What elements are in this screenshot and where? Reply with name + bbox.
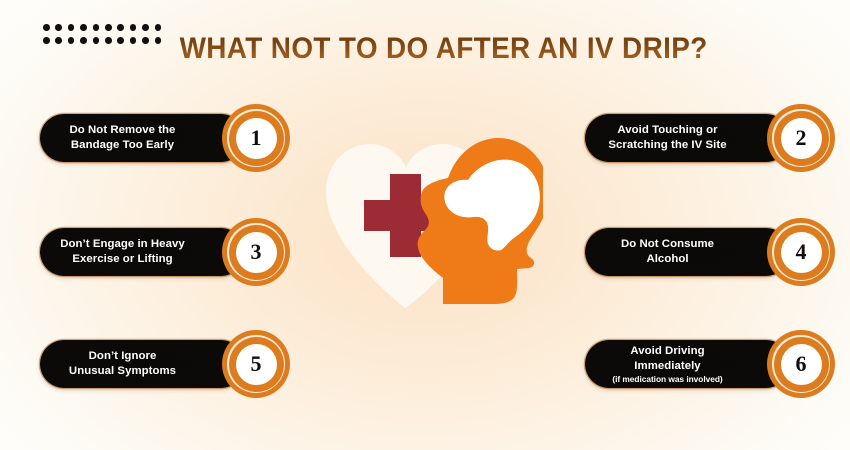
tip-pill-6[interactable]: Avoid DrivingImmediately(if medication w… (585, 340, 790, 388)
tip-sublabel-6: (if medication was involved) (597, 374, 738, 384)
tip-item-3[interactable]: Don’t Engage in HeavyExercise or Lifting… (40, 218, 290, 286)
tip-pill-1[interactable]: Do Not Remove theBandage Too Early (40, 114, 245, 162)
decorative-dot (43, 24, 50, 31)
tip-badge-ring-4: 4 (774, 225, 829, 280)
tip-item-4[interactable]: Do Not ConsumeAlcohol4 (585, 218, 835, 286)
tip-pill-5[interactable]: Don’t IgnoreUnusual Symptoms (40, 340, 245, 388)
decorative-dot (130, 24, 137, 31)
tip-badge-6[interactable]: 6 (767, 330, 835, 398)
tip-number-5: 5 (236, 344, 277, 385)
tip-badge-4[interactable]: 4 (767, 218, 835, 286)
tip-badge-ring-5: 5 (229, 337, 284, 392)
tip-label-1: Do Not Remove theBandage Too Early (52, 123, 193, 152)
infographic-canvas: WHAT NOT TO DO AFTER AN IV DRIP? Do Not … (0, 0, 850, 450)
decorative-dot (93, 24, 100, 31)
tip-label-2: Avoid Touching orScratching the IV Site (597, 123, 738, 152)
tip-badge-3[interactable]: 3 (222, 218, 290, 286)
decorative-dot (80, 24, 87, 31)
tip-badge-ring-2: 2 (774, 111, 829, 166)
tip-label-4: Do Not ConsumeAlcohol (597, 237, 738, 266)
tip-pill-3[interactable]: Don’t Engage in HeavyExercise or Lifting (40, 228, 245, 276)
tip-badge-1[interactable]: 1 (222, 104, 290, 172)
tip-label-3: Don’t Engage in HeavyExercise or Lifting (52, 237, 193, 266)
decorative-dot (117, 24, 124, 31)
tip-badge-ring-1: 1 (229, 111, 284, 166)
tip-item-6[interactable]: Avoid DrivingImmediately(if medication w… (585, 330, 835, 398)
decorative-dot (105, 24, 112, 31)
decorative-dot (68, 24, 75, 31)
tip-item-5[interactable]: Don’t IgnoreUnusual Symptoms5 (40, 330, 290, 398)
tip-number-4: 4 (781, 232, 822, 273)
tip-pill-4[interactable]: Do Not ConsumeAlcohol (585, 228, 790, 276)
tip-badge-2[interactable]: 2 (767, 104, 835, 172)
tip-badge-ring-3: 3 (229, 225, 284, 280)
tip-badge-5[interactable]: 5 (222, 330, 290, 398)
tip-item-1[interactable]: Do Not Remove theBandage Too Early1 (40, 104, 290, 172)
tip-label-6: Avoid DrivingImmediately(if medication w… (597, 344, 738, 383)
tip-item-2[interactable]: Avoid Touching orScratching the IV Site2 (585, 104, 835, 172)
decorative-dot (155, 24, 162, 31)
tip-number-3: 3 (236, 232, 277, 273)
tip-label-5: Don’t IgnoreUnusual Symptoms (52, 349, 193, 378)
heart-cross-head-brain-icon (318, 118, 543, 318)
tip-number-1: 1 (236, 118, 277, 159)
tip-number-6: 6 (781, 344, 822, 385)
page-title: WHAT NOT TO DO AFTER AN IV DRIP? (30, 33, 821, 65)
tip-badge-ring-6: 6 (774, 337, 829, 392)
tip-number-2: 2 (781, 118, 822, 159)
decorative-dot (55, 24, 62, 31)
tip-pill-2[interactable]: Avoid Touching orScratching the IV Site (585, 114, 790, 162)
decorative-dot (142, 24, 149, 31)
